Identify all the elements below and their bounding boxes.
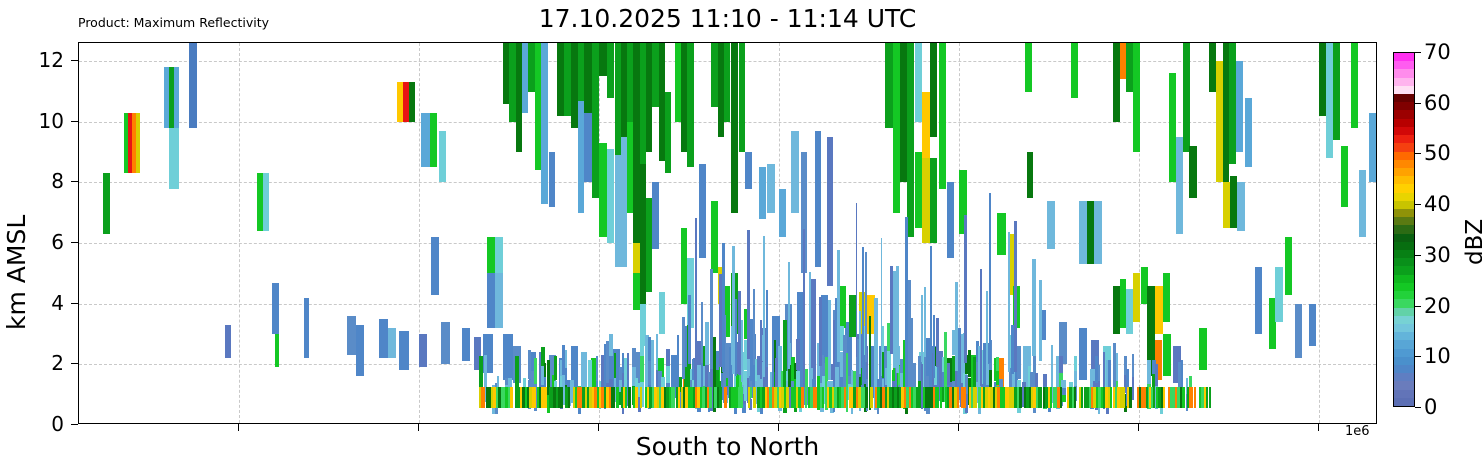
reflectivity-column-segment xyxy=(819,297,822,367)
reflectivity-column-segment xyxy=(1113,43,1120,122)
colorbar-segment xyxy=(1394,233,1414,242)
reflectivity-column-segment xyxy=(997,213,1006,255)
reflectivity-column-segment xyxy=(584,43,592,113)
reflectivity-column-segment xyxy=(1019,387,1022,408)
y-tick-mark xyxy=(71,60,78,61)
chart-title: 17.10.2025 11:10 - 11:14 UTC xyxy=(78,4,1377,33)
reflectivity-column-segment xyxy=(763,236,765,378)
reflectivity-column-segment xyxy=(1017,346,1021,379)
colorbar-tick-label: 0 xyxy=(1424,395,1437,419)
colorbar-segment xyxy=(1394,323,1414,332)
reflectivity-column-segment xyxy=(1369,113,1376,183)
reflectivity-column-segment xyxy=(791,131,799,213)
colorbar-segment xyxy=(1394,142,1414,151)
reflectivity-column-segment xyxy=(1351,43,1358,128)
reflectivity-column-segment xyxy=(809,272,811,379)
reflectivity-column-segment xyxy=(955,282,958,371)
y-tick-mark xyxy=(71,363,78,364)
reflectivity-column-segment xyxy=(588,360,592,382)
y-tick-mark xyxy=(71,242,78,243)
reflectivity-column-segment xyxy=(136,113,140,174)
colorbar-segment xyxy=(1394,356,1414,365)
colorbar-tick-label: 20 xyxy=(1424,294,1451,318)
reflectivity-column-segment xyxy=(174,128,179,189)
colorbar-segment xyxy=(1394,192,1414,201)
reflectivity-column-segment xyxy=(609,356,613,379)
y-tick-label: 12 xyxy=(18,48,64,72)
reflectivity-column-segment xyxy=(1047,201,1055,250)
reflectivity-column-segment xyxy=(996,357,999,371)
reflectivity-column-segment xyxy=(1098,365,1100,381)
reflectivity-column-segment xyxy=(722,243,725,372)
reflectivity-column-segment xyxy=(918,387,921,408)
colorbar-segment xyxy=(1394,298,1414,307)
reflectivity-column-segment xyxy=(431,237,439,295)
reflectivity-column-segment xyxy=(1122,387,1125,408)
reflectivity-column-segment xyxy=(635,387,638,408)
reflectivity-column-segment xyxy=(547,360,551,378)
colorbar-segment xyxy=(1394,257,1414,266)
y-tick-label: 8 xyxy=(18,169,64,193)
reflectivity-column-segment xyxy=(616,387,619,408)
reflectivity-column-segment xyxy=(399,331,409,370)
reflectivity-column-segment xyxy=(1230,176,1237,228)
colorbar-segment xyxy=(1394,69,1414,78)
colorbar-segment xyxy=(1394,372,1414,381)
reflectivity-column-segment xyxy=(856,203,858,357)
reflectivity-column-segment xyxy=(1333,43,1340,140)
reflectivity-column-segment xyxy=(1014,221,1017,372)
reflectivity-column-segment xyxy=(666,366,669,383)
colorbar-tick-mark xyxy=(1415,306,1421,307)
colorbar-segment xyxy=(1394,315,1414,324)
reflectivity-column-segment xyxy=(1155,364,1158,387)
reflectivity-column-segment xyxy=(633,273,640,309)
colorbar-segment xyxy=(1394,348,1414,357)
reflectivity-column-segment xyxy=(1147,360,1151,385)
reflectivity-column-segment xyxy=(968,350,971,377)
reflectivity-column-segment xyxy=(765,379,768,387)
colorbar-segment xyxy=(1394,134,1414,143)
reflectivity-column-segment xyxy=(652,182,659,249)
reflectivity-column-segment xyxy=(263,173,269,231)
reflectivity-column-segment xyxy=(874,298,877,363)
colorbar-segment xyxy=(1394,200,1414,209)
reflectivity-column-segment xyxy=(699,164,706,258)
reflectivity-column-segment xyxy=(666,349,669,366)
x-axis-label: South to North xyxy=(78,432,1377,461)
reflectivity-column-segment xyxy=(933,315,935,379)
colorbar-tick-label: 50 xyxy=(1424,141,1451,165)
reflectivity-column-segment xyxy=(1133,273,1140,322)
reflectivity-column-segment xyxy=(882,326,884,352)
reflectivity-column-segment xyxy=(584,113,592,183)
reflectivity-column-segment xyxy=(640,356,644,382)
reflectivity-column-segment xyxy=(1326,43,1333,158)
reflectivity-column-segment xyxy=(421,113,430,168)
reflectivity-column-segment xyxy=(936,318,939,367)
reflectivity-column-segment xyxy=(961,334,963,384)
y-tick-mark xyxy=(71,424,78,425)
reflectivity-column-segment xyxy=(753,387,756,408)
reflectivity-column-segment xyxy=(930,246,932,388)
reflectivity-column-segment xyxy=(759,167,766,219)
colorbar-tick-mark xyxy=(1415,153,1421,154)
reflectivity-column-segment xyxy=(541,43,548,131)
reflectivity-column-segment xyxy=(710,269,713,369)
reflectivity-column-segment xyxy=(441,322,450,364)
colorbar-segment xyxy=(1394,266,1414,275)
reflectivity-column-segment xyxy=(532,387,536,408)
reflectivity-column-segment xyxy=(719,387,722,408)
reflectivity-column-segment xyxy=(439,131,446,183)
reflectivity-column-segment xyxy=(1216,61,1223,182)
reflectivity-column-segment xyxy=(1209,43,1216,92)
y-tick-mark xyxy=(71,303,78,304)
reflectivity-column-segment xyxy=(1074,371,1077,386)
reflectivity-column-segment xyxy=(815,131,821,267)
reflectivity-column-segment xyxy=(557,43,564,116)
colorbar-segment xyxy=(1394,216,1414,225)
reflectivity-column-segment xyxy=(915,43,922,122)
colorbar-segment xyxy=(1394,159,1414,168)
reflectivity-column-segment xyxy=(607,149,614,243)
reflectivity-column-segment xyxy=(1087,201,1094,265)
reflectivity-column-segment xyxy=(581,352,587,388)
reflectivity-column-segment xyxy=(922,92,930,159)
reflectivity-column-segment xyxy=(786,387,789,408)
reflectivity-column-segment xyxy=(640,331,644,357)
reflectivity-column-segment xyxy=(1027,152,1033,197)
reflectivity-column-segment xyxy=(1229,43,1236,164)
reflectivity-column-segment xyxy=(272,283,279,335)
reflectivity-column-segment xyxy=(561,387,563,408)
reflectivity-column-segment xyxy=(614,353,616,378)
reflectivity-column-segment xyxy=(347,316,356,355)
colorbar-segment xyxy=(1394,331,1414,340)
reflectivity-column-segment xyxy=(748,387,751,408)
reflectivity-column-segment xyxy=(1285,237,1292,295)
colorbar-segment xyxy=(1394,381,1414,390)
reflectivity-column-segment xyxy=(640,387,643,408)
x-tick-mark xyxy=(778,424,779,431)
reflectivity-column-segment xyxy=(225,325,231,358)
reflectivity-column-segment xyxy=(865,252,867,362)
reflectivity-column-segment xyxy=(711,43,718,107)
reflectivity-column-segment xyxy=(940,387,942,408)
reflectivity-column-segment xyxy=(822,387,824,408)
colorbar-segment xyxy=(1394,290,1414,299)
reflectivity-column-segment xyxy=(1223,182,1230,227)
colorbar xyxy=(1393,52,1415,407)
reflectivity-column-segment xyxy=(1079,328,1087,380)
colorbar-segment xyxy=(1394,175,1414,184)
reflectivity-column-segment xyxy=(682,317,685,380)
reflectivity-column-segment xyxy=(671,387,675,408)
reflectivity-column-segment xyxy=(388,328,396,358)
reflectivity-column-segment xyxy=(564,43,571,116)
colorbar-segment xyxy=(1394,183,1414,192)
reflectivity-column-segment xyxy=(1025,43,1032,92)
reflectivity-column-segment xyxy=(1295,304,1302,359)
reflectivity-column-segment xyxy=(870,387,873,408)
x-tick-mark xyxy=(418,424,419,431)
reflectivity-column-segment xyxy=(964,215,967,363)
x-axis-offset-text: 1e6 xyxy=(1345,424,1370,439)
colorbar-tick-label: 40 xyxy=(1424,192,1451,216)
reflectivity-column-segment xyxy=(905,217,907,366)
reflectivity-column-segment xyxy=(922,158,930,243)
y-tick-label: 0 xyxy=(18,412,64,436)
colorbar-segment xyxy=(1394,225,1414,234)
y-tick-mark xyxy=(71,121,78,122)
reflectivity-column-segment xyxy=(487,273,495,328)
colorbar-tick-label: 70 xyxy=(1424,40,1451,64)
radar-cross-section-figure: Product: Maximum Reflectivity 17.10.2025… xyxy=(0,0,1482,470)
reflectivity-column-segment xyxy=(1359,170,1366,237)
reflectivity-column-segment xyxy=(103,173,110,234)
reflectivity-column-segment xyxy=(1275,267,1283,322)
reflectivity-column-segment xyxy=(1341,146,1348,207)
reflectivity-column-segment xyxy=(731,43,738,213)
reflectivity-column-segment xyxy=(1071,43,1078,98)
reflectivity-column-segment xyxy=(1129,387,1132,408)
colorbar-tick-mark xyxy=(1415,407,1421,408)
reflectivity-column-segment xyxy=(973,387,977,408)
reflectivity-column-segment xyxy=(827,137,833,286)
reflectivity-column-segment xyxy=(1189,146,1197,198)
reflectivity-column-segment xyxy=(1079,201,1087,265)
reflectivity-column-segment xyxy=(495,273,503,328)
reflectivity-column-segment xyxy=(803,229,805,388)
reflectivity-column-segment xyxy=(1038,387,1042,408)
reflectivity-column-segment xyxy=(1032,259,1035,356)
reflectivity-column-segment xyxy=(986,291,988,383)
reflectivity-column-segment xyxy=(356,325,364,377)
colorbar-tick-mark xyxy=(1415,52,1421,53)
reflectivity-column-segment xyxy=(796,339,800,371)
colorbar-segment xyxy=(1394,52,1414,61)
colorbar-segment xyxy=(1394,110,1414,119)
colorbar-segment xyxy=(1394,126,1414,135)
reflectivity-column-segment xyxy=(964,387,967,408)
reflectivity-column-segment xyxy=(599,43,607,76)
reflectivity-column-segment xyxy=(753,289,755,365)
reflectivity-column-segment xyxy=(632,348,636,367)
reflectivity-data xyxy=(79,43,1376,423)
colorbar-segment xyxy=(1394,274,1414,283)
reflectivity-column-segment xyxy=(719,274,721,368)
reflectivity-column-segment xyxy=(1255,267,1262,334)
reflectivity-column-segment xyxy=(430,113,437,168)
reflectivity-column-segment xyxy=(1182,387,1185,408)
reflectivity-column-segment xyxy=(939,43,946,189)
reflectivity-column-segment xyxy=(656,334,659,371)
reflectivity-column-segment xyxy=(724,387,727,408)
reflectivity-column-segment xyxy=(844,387,846,408)
reflectivity-column-segment xyxy=(924,287,926,357)
reflectivity-column-segment xyxy=(930,158,937,243)
reflectivity-column-segment xyxy=(1039,280,1042,361)
reflectivity-column-segment xyxy=(611,387,615,408)
reflectivity-column-segment xyxy=(900,43,907,182)
reflectivity-column-segment xyxy=(1309,304,1316,346)
reflectivity-column-segment xyxy=(1319,43,1326,116)
reflectivity-column-segment xyxy=(935,387,939,408)
colorbar-segment xyxy=(1394,77,1414,86)
colorbar-segment xyxy=(1394,118,1414,127)
reflectivity-column-segment xyxy=(554,356,556,380)
reflectivity-column-segment xyxy=(1176,137,1183,234)
colorbar-segment xyxy=(1394,151,1414,160)
reflectivity-column-segment xyxy=(697,365,700,389)
reflectivity-column-segment xyxy=(652,43,659,107)
reflectivity-column-segment xyxy=(665,92,671,174)
reflectivity-column-segment xyxy=(724,43,730,122)
reflectivity-column-segment xyxy=(772,316,774,387)
reflectivity-column-segment xyxy=(1074,387,1076,408)
x-tick-mark xyxy=(958,424,959,431)
reflectivity-column-segment xyxy=(497,376,499,387)
reflectivity-column-segment xyxy=(1194,387,1196,408)
reflectivity-column-segment xyxy=(503,334,513,379)
reflectivity-column-segment xyxy=(1245,98,1252,168)
reflectivity-column-segment xyxy=(544,387,548,408)
reflectivity-column-segment xyxy=(788,262,791,370)
colorbar-segment xyxy=(1394,282,1414,291)
reflectivity-column-segment xyxy=(701,302,703,363)
reflectivity-column-segment xyxy=(828,300,831,380)
reflectivity-column-segment xyxy=(745,152,752,188)
y-tick-mark xyxy=(71,181,78,182)
colorbar-tick-mark xyxy=(1415,103,1421,104)
colorbar-tick-label: 30 xyxy=(1424,243,1451,267)
reflectivity-column-segment xyxy=(1199,328,1207,370)
reflectivity-column-segment xyxy=(1043,374,1047,386)
reflectivity-column-segment xyxy=(837,250,840,361)
reflectivity-column-segment xyxy=(609,334,613,357)
reflectivity-column-segment xyxy=(1236,61,1243,152)
reflectivity-column-segment xyxy=(865,387,867,408)
colorbar-segment xyxy=(1394,167,1414,176)
colorbar-tick-mark xyxy=(1415,255,1421,256)
reflectivity-column-segment xyxy=(189,43,197,128)
reflectivity-column-segment xyxy=(779,189,786,238)
colorbar-segment xyxy=(1394,339,1414,348)
reflectivity-column-segment xyxy=(711,201,718,274)
reflectivity-column-segment xyxy=(379,319,388,358)
reflectivity-column-segment xyxy=(549,152,555,207)
reflectivity-column-segment xyxy=(1163,273,1170,322)
reflectivity-column-segment xyxy=(659,292,665,334)
reflectivity-column-segment xyxy=(1126,289,1133,334)
reflectivity-column-segment xyxy=(930,43,937,137)
reflectivity-column-segment xyxy=(687,43,694,167)
reflectivity-column-segment xyxy=(881,238,883,376)
reflectivity-column-segment xyxy=(627,353,629,380)
colorbar-segment xyxy=(1394,60,1414,69)
reflectivity-column-segment xyxy=(957,387,959,408)
colorbar-segment xyxy=(1394,93,1414,102)
reflectivity-column-segment xyxy=(885,43,893,128)
x-tick-mark xyxy=(1138,424,1139,431)
reflectivity-column-segment xyxy=(1113,286,1120,335)
colorbar-segment xyxy=(1394,389,1414,398)
reflectivity-column-segment xyxy=(767,164,775,213)
reflectivity-column-segment xyxy=(1061,380,1065,387)
reflectivity-column-segment xyxy=(1116,353,1118,381)
reflectivity-column-segment xyxy=(607,43,614,98)
reflectivity-column-segment xyxy=(495,237,503,273)
colorbar-tick-mark xyxy=(1415,204,1421,205)
reflectivity-column-segment xyxy=(1189,387,1193,408)
colorbar-tick-label: 60 xyxy=(1424,91,1451,115)
reflectivity-column-segment xyxy=(1163,387,1165,408)
x-tick-mark xyxy=(1318,424,1319,431)
reflectivity-column-segment xyxy=(487,237,495,273)
reflectivity-column-segment xyxy=(633,43,640,243)
reflectivity-column-segment xyxy=(695,218,698,360)
y-tick-label: 2 xyxy=(18,351,64,375)
reflectivity-column-segment xyxy=(859,311,861,375)
reflectivity-column-segment xyxy=(896,266,899,374)
colorbar-segment xyxy=(1394,208,1414,217)
colorbar-segment xyxy=(1394,364,1414,373)
reflectivity-column-segment xyxy=(1237,182,1245,231)
reflectivity-column-segment xyxy=(1008,232,1010,372)
reflectivity-column-segment xyxy=(907,43,914,237)
y-tick-label: 6 xyxy=(18,230,64,254)
reflectivity-column-segment xyxy=(887,351,890,378)
reflectivity-column-segment xyxy=(989,193,991,364)
reflectivity-column-segment xyxy=(1155,286,1163,335)
colorbar-tick-label: 10 xyxy=(1424,344,1451,368)
colorbar-segment xyxy=(1394,307,1414,316)
reflectivity-column-segment xyxy=(801,387,804,408)
reflectivity-column-segment xyxy=(709,387,711,408)
reflectivity-column-segment xyxy=(908,280,911,367)
reflectivity-column-segment xyxy=(174,67,179,128)
colorbar-label: dBZ xyxy=(1462,219,1482,265)
reflectivity-column-segment xyxy=(735,299,737,377)
reflectivity-column-segment xyxy=(633,243,640,273)
y-tick-label: 4 xyxy=(18,291,64,315)
colorbar-tick-mark xyxy=(1415,356,1421,357)
reflectivity-column-segment xyxy=(893,43,900,213)
reflectivity-column-segment xyxy=(1059,356,1063,373)
y-tick-label: 10 xyxy=(18,109,64,133)
reflectivity-column-segment xyxy=(739,43,745,152)
reflectivity-column-segment xyxy=(304,298,309,359)
reflectivity-column-segment xyxy=(705,322,709,365)
reflectivity-column-segment xyxy=(1163,334,1171,376)
x-tick-mark xyxy=(598,424,599,431)
colorbar-segment xyxy=(1394,241,1414,250)
reflectivity-column-segment xyxy=(980,269,982,386)
reflectivity-column-segment xyxy=(1147,286,1155,335)
reflectivity-column-segment xyxy=(766,290,769,366)
reflectivity-column-segment xyxy=(1061,388,1065,395)
reflectivity-column-segment xyxy=(419,334,427,367)
reflectivity-column-segment xyxy=(1060,387,1062,408)
reflectivity-column-segment xyxy=(510,387,513,408)
reflectivity-column-segment xyxy=(628,387,631,408)
reflectivity-column-segment xyxy=(741,320,743,382)
reflectivity-column-segment xyxy=(1074,356,1077,371)
reflectivity-column-segment xyxy=(915,152,922,228)
reflectivity-column-segment xyxy=(741,387,743,408)
reflectivity-column-segment xyxy=(1183,43,1190,152)
